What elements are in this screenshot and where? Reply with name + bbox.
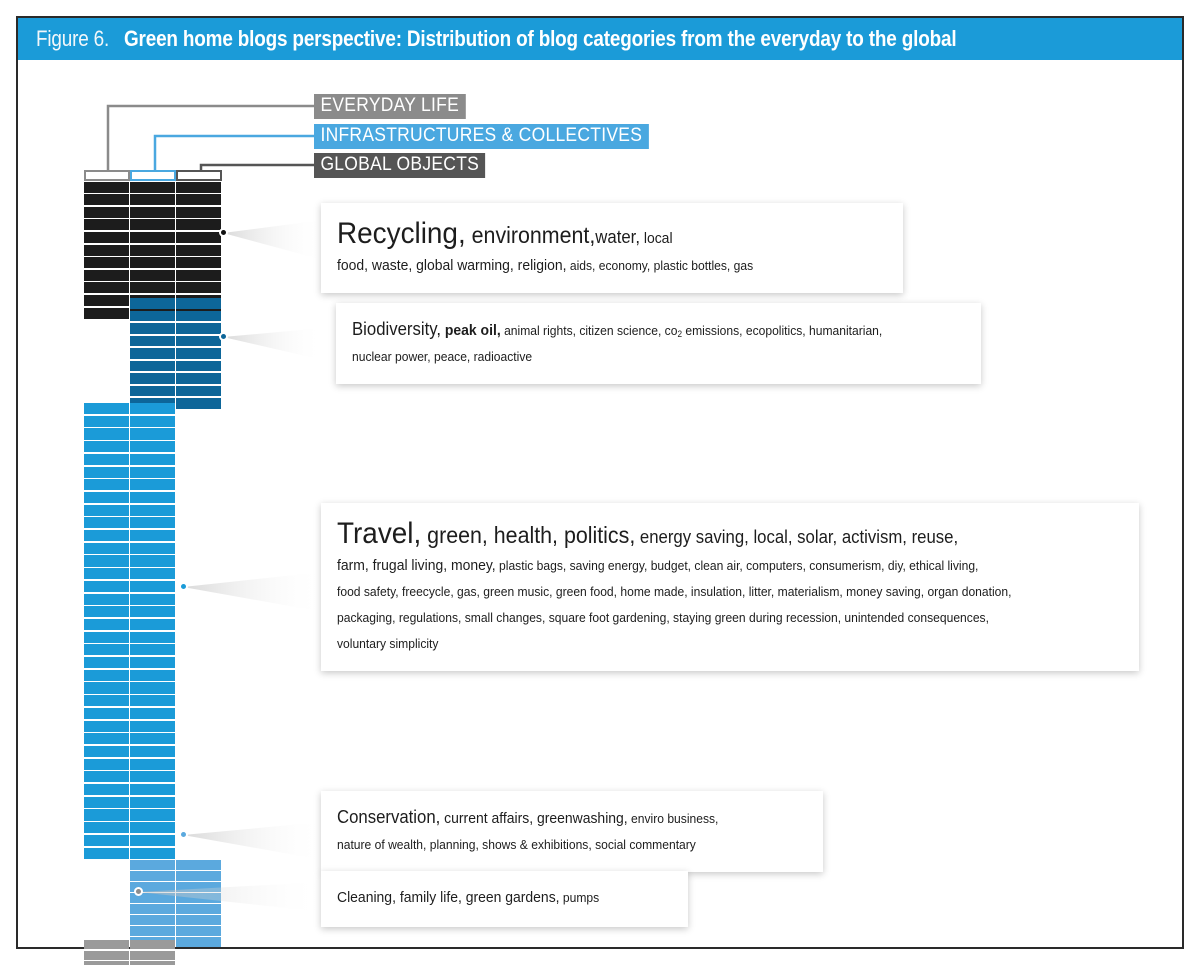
callout-dot-cleaning[interactable] — [134, 887, 143, 896]
bar-row[interactable] — [84, 951, 176, 960]
figure-title: Green home blogs perspective: Distributi… — [124, 26, 956, 52]
callout-dot-travel[interactable] — [179, 582, 188, 591]
callout-dot-biodiversity[interactable] — [219, 332, 228, 341]
figure-titlebar: Figure 6. Green home blogs perspective: … — [18, 18, 1182, 60]
figure-number: Figure 6. — [36, 26, 109, 52]
bar-cell — [84, 961, 129, 965]
chart-canvas: EVERYDAY LIFE INFRASTRUCTURES & COLLECTI… — [18, 60, 1182, 947]
bar-cell — [130, 951, 175, 960]
bar-cell — [130, 961, 175, 965]
figure-container: Figure 6. Green home blogs perspective: … — [0, 0, 1200, 965]
bar-cell — [84, 951, 129, 960]
callout-dot-conservation[interactable] — [179, 830, 188, 839]
callout-dot-recycling[interactable] — [219, 228, 228, 237]
bar-row[interactable] — [84, 961, 176, 965]
callout-leader-shadows — [18, 60, 1182, 947]
